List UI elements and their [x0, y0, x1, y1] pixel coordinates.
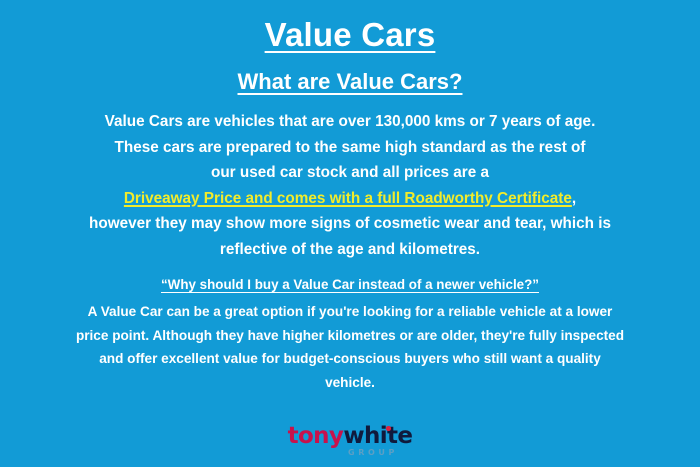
body-line-1: Value Cars are vehicles that are over 13…: [30, 109, 670, 135]
answer-line-3: and offer excellent value for budget-con…: [22, 347, 678, 371]
value-cars-info-card: Value Cars What are Value Cars? Value Ca…: [0, 0, 700, 467]
answer-line-1: A Value Car can be a great option if you…: [22, 300, 678, 324]
logo-dot-icon: [386, 426, 391, 431]
body-line-2: These cars are prepared to the same high…: [30, 135, 670, 161]
answer-line-2: price point. Although they have higher k…: [22, 324, 678, 348]
highlighted-text: Driveaway Price and comes with a full Ro…: [124, 190, 572, 207]
highlight-trailing-comma: ,: [572, 190, 576, 207]
body-line-3: our used car stock and all prices are a: [30, 160, 670, 186]
page-title: Value Cars: [0, 0, 700, 51]
answer-text-block: A Value Car can be a great option if you…: [0, 293, 700, 394]
logo-text-tony: tony: [288, 423, 344, 449]
body-highlight-line: Driveaway Price and comes with a full Ro…: [30, 186, 670, 212]
quoted-question: “Why should I buy a Value Car instead of…: [0, 277, 700, 293]
body-line-5: however they may show more signs of cosm…: [30, 211, 670, 237]
section-subtitle: What are Value Cars?: [0, 51, 700, 93]
body-line-6: reflective of the age and kilometres.: [30, 237, 670, 263]
answer-line-4: vehicle.: [22, 371, 678, 395]
tony-white-group-logo: tonywhite GROUP: [0, 425, 700, 457]
body-text-block: Value Cars are vehicles that are over 13…: [0, 93, 700, 262]
logo-tagline: GROUP: [302, 449, 398, 457]
logo-wordmark: tonywhite: [288, 425, 413, 448]
logo-text-white: white: [343, 423, 412, 449]
